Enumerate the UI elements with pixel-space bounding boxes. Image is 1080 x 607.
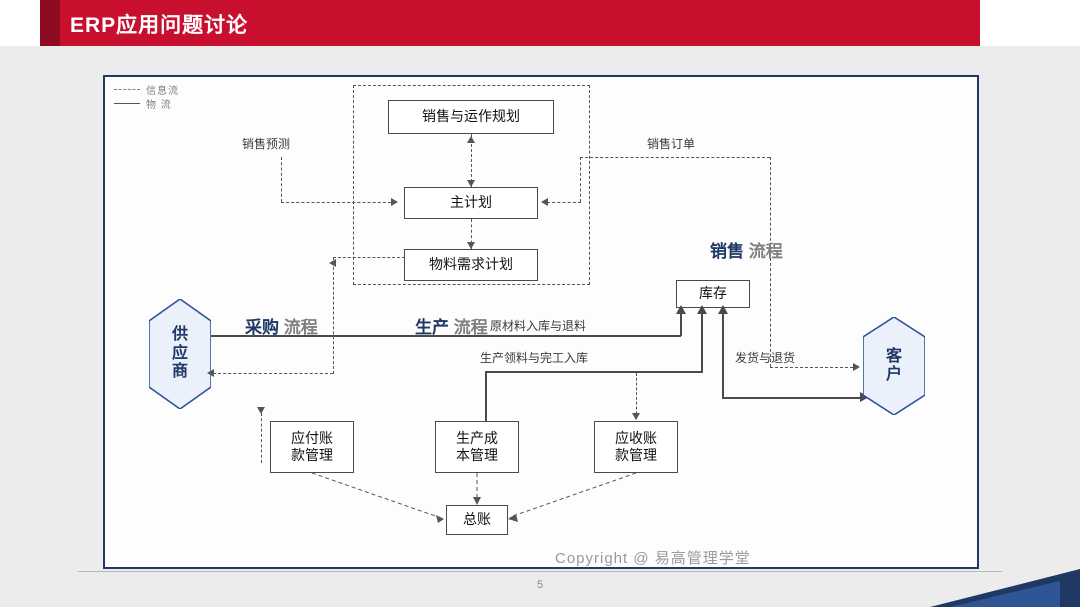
flow-label-word1: 销售: [710, 242, 744, 261]
arrow-left-icon: [207, 369, 214, 377]
box-label: 销售与运作规划: [422, 108, 520, 126]
corner-shape-light: [950, 581, 1060, 607]
legend-label-material-flow: 物 流: [146, 96, 172, 111]
legend-label-info-flow: 信息流: [146, 82, 179, 97]
footer-divider: [78, 571, 1002, 572]
diagram-legend: 信息流 物 流: [114, 82, 179, 110]
box-label-line2: 本管理: [456, 447, 498, 465]
hexagon-char: 商: [172, 363, 188, 381]
copyright-text: Copyright @ 易高管理学堂: [555, 547, 751, 568]
solid-line-icon: [114, 103, 140, 104]
ap-to-gl-line: [312, 473, 462, 535]
hexagon-char: 应: [172, 345, 188, 363]
flow-label-sales: 销售 流程: [710, 237, 783, 262]
copyright-brand: 易高管理学堂: [655, 549, 751, 567]
annotation-material-in: 原材料入库与退料: [490, 317, 586, 334]
slide-body: 信息流 物 流 销售与运作规划 主计划 物料需求计划 销售预测: [0, 46, 1080, 607]
box-production-cost[interactable]: 生产成 本管理: [435, 421, 519, 473]
page-title: ERP应用问题讨论: [70, 9, 248, 39]
sales-forecast-vertical: [281, 157, 282, 202]
corner-decoration: [890, 561, 1080, 607]
cost-to-gl-svg: [473, 473, 487, 507]
sales-forecast-horizontal: [281, 202, 396, 203]
arrow-up-icon: [697, 305, 707, 314]
material-branch-shipment: [722, 397, 864, 399]
material-branch-production: [485, 371, 703, 373]
arrow-down-icon: [257, 407, 265, 414]
box-sales-operations-planning[interactable]: 销售与运作规划: [388, 100, 554, 134]
arrow-down-icon: [467, 180, 475, 187]
annotation-sales-order: 销售订单: [647, 135, 695, 152]
box-label: 总账: [463, 511, 491, 529]
arrow-down-icon: [467, 242, 475, 249]
box-master-plan[interactable]: 主计划: [404, 187, 538, 219]
box-accounts-payable[interactable]: 应付账 款管理: [270, 421, 354, 473]
ar-to-gl-line: [500, 473, 640, 535]
box-accounts-receivable[interactable]: 应收账 款管理: [594, 421, 678, 473]
sales-order-vertical: [580, 157, 581, 202]
box-label-line1: 应收账: [615, 430, 657, 448]
arrow-up-icon: [718, 305, 728, 314]
purchase-order-line: [213, 373, 333, 374]
hexagon-supplier-label: 供 应 商: [172, 326, 188, 381]
hexagon-char: 客: [886, 348, 902, 366]
material-branch-production-down: [485, 371, 487, 425]
arrow-right-icon: [391, 198, 398, 206]
purchase-order-top: [333, 257, 405, 258]
box-label-line1: 应付账: [291, 430, 333, 448]
arrow-up-icon: [467, 136, 475, 143]
material-riser-2: [701, 309, 703, 372]
annotation-production-issue: 生产领料与完工入库: [480, 349, 588, 366]
arrow-up-icon: [676, 305, 686, 314]
order-path-right-vertical: [770, 157, 771, 367]
box-label: 主计划: [450, 194, 492, 212]
box-label-line2: 款管理: [291, 447, 333, 465]
hexagon-customer-label: 客 户: [886, 348, 902, 385]
annotation-shipment: 发货与退货: [735, 349, 795, 366]
cost-to-gl-line: [473, 473, 487, 507]
hexagon-char: 户: [886, 366, 902, 384]
ar-to-gl-svg: [500, 473, 640, 535]
legend-item-material-flow: 物 流: [114, 96, 179, 110]
slide-header: ERP应用问题讨论: [0, 0, 1080, 46]
hexagon-char: 供: [172, 326, 188, 344]
box-label: 物料需求计划: [429, 256, 513, 274]
legend-item-info-flow: 信息流: [114, 82, 179, 96]
order-path-top: [580, 157, 770, 158]
box-label: 库存: [699, 285, 727, 303]
arrow-right-icon: [853, 363, 860, 371]
arrow-left-icon: [329, 259, 336, 267]
header-accent-bar: [40, 0, 60, 46]
box-inventory[interactable]: 库存: [676, 280, 750, 308]
box-label-line1: 生产成: [456, 430, 498, 448]
hexagon-customer[interactable]: 客 户: [863, 317, 925, 415]
box-label-line2: 款管理: [615, 447, 657, 465]
material-riser-3: [722, 309, 724, 399]
supplier-to-ap-vertical: [261, 413, 262, 463]
ap-to-gl-svg: [312, 473, 462, 535]
box-material-requirement-plan[interactable]: 物料需求计划: [404, 249, 538, 281]
dashed-line-icon: [114, 89, 140, 90]
copyright-prefix: Copyright @: [555, 550, 655, 567]
arrow-left-icon: [541, 198, 548, 206]
arrow-down-icon: [632, 413, 640, 420]
flow-label-word2: 流程: [749, 242, 783, 261]
annotation-sales-forecast: 销售预测: [242, 135, 290, 152]
material-flow-main-line: [203, 335, 681, 337]
erp-flow-diagram: 信息流 物 流 销售与运作规划 主计划 物料需求计划 销售预测: [103, 75, 979, 569]
hexagon-supplier[interactable]: 供 应 商: [149, 299, 211, 409]
sales-order-horizontal: [547, 202, 581, 203]
purchase-order-vertical: [333, 257, 334, 374]
order-path-to-customer: [770, 367, 858, 368]
